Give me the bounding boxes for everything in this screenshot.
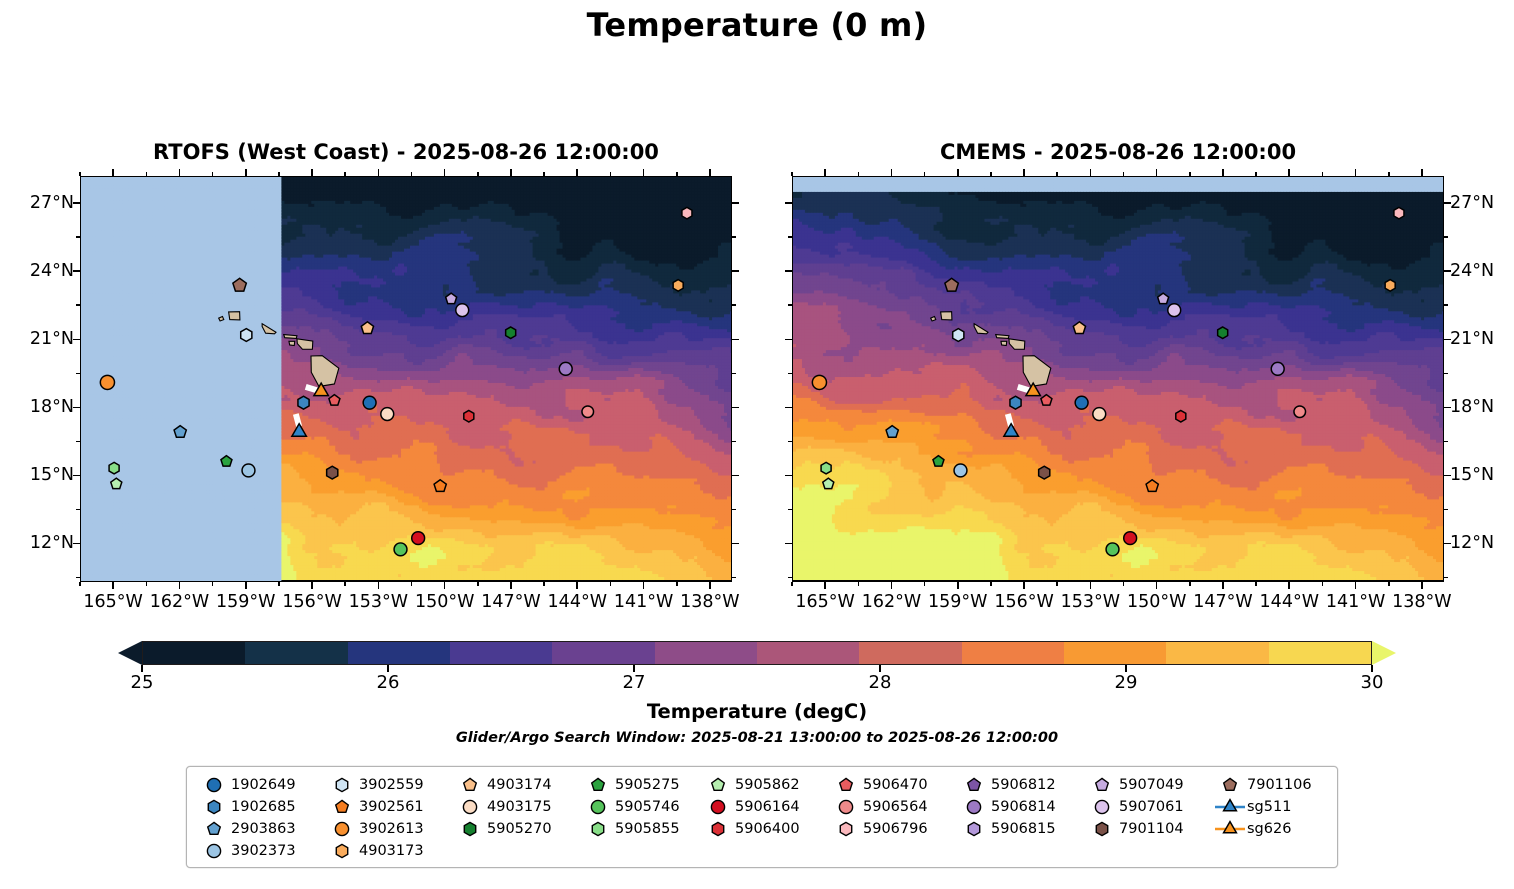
ytick-minor-left <box>788 577 792 579</box>
map-marker-5905746[interactable] <box>394 543 407 556</box>
xtick-major <box>510 582 512 589</box>
xtick-minor <box>278 582 280 586</box>
xtick-label-1: 162°W <box>150 592 209 612</box>
xtick-minor-top <box>411 172 413 176</box>
xtick-major-top <box>576 169 578 176</box>
xtick-major-top <box>1222 169 1224 176</box>
xtick-minor-top <box>924 172 926 176</box>
map-marker-4903173[interactable] <box>673 280 683 292</box>
ytick-minor-left <box>76 373 80 375</box>
ytick-label-left-3: 18°N <box>30 397 74 417</box>
legend-item-2903863[interactable]: 2903863 <box>197 820 325 838</box>
xtick-minor-top <box>858 172 860 176</box>
ytick-major-left <box>73 543 80 545</box>
colorbar-tick-2 <box>633 665 634 672</box>
ytick-minor-left <box>76 509 80 511</box>
colorbar-tick-label-0: 25 <box>131 672 154 693</box>
panel-title-rtofs: RTOFS (West Coast) - 2025-08-26 12:00:00 <box>80 140 732 164</box>
colorbar-band-9 <box>1064 642 1166 664</box>
ytick-minor-right <box>732 441 736 443</box>
ytick-major-left <box>73 202 80 204</box>
ytick-major-left <box>785 475 792 477</box>
xtick-minor <box>344 582 346 586</box>
legend-marker-pentagon-icon <box>325 798 359 816</box>
ytick-minor-left <box>76 577 80 579</box>
xtick-major <box>444 582 446 589</box>
xtick-major-top <box>824 169 826 176</box>
map-panel-rtofs[interactable] <box>80 176 732 582</box>
ytick-minor-left <box>76 304 80 306</box>
xtick-minor-top <box>146 172 148 176</box>
xtick-minor-top <box>1056 172 1058 176</box>
xtick-major-top <box>1421 169 1423 176</box>
xtick-major <box>824 582 826 589</box>
legend-item-sg626[interactable]: sg626 <box>1213 820 1325 838</box>
ytick-major-left <box>785 270 792 272</box>
xtick-minor <box>1322 582 1324 586</box>
xtick-major <box>1090 582 1092 589</box>
xtick-label-3: 156°W <box>282 592 341 612</box>
ytick-minor-left <box>76 441 80 443</box>
xtick-major <box>1023 582 1025 589</box>
legend-item-5905746[interactable]: 5905746 <box>581 798 701 816</box>
map-marker-3902373[interactable] <box>242 464 255 477</box>
ytick-minor-right <box>732 236 736 238</box>
legend-marker-pentagon-icon <box>1085 776 1119 794</box>
xtick-label-7: 144°W <box>1260 592 1319 612</box>
legend-column-5: 590647059065645906796 <box>829 776 957 860</box>
xtick-minor <box>858 582 860 586</box>
xtick-minor <box>791 582 793 586</box>
legend-label: 3902561 <box>359 799 424 815</box>
colorbar-band-10 <box>1166 642 1268 664</box>
colorbar-band-1 <box>245 642 347 664</box>
island-polygon <box>229 312 240 320</box>
colorbar-tick-5 <box>1371 665 1372 672</box>
legend-item-5906164[interactable]: 5906164 <box>701 798 829 816</box>
legend-label: 4903173 <box>359 843 424 859</box>
xtick-minor <box>610 582 612 586</box>
map-marker-5907061[interactable] <box>1168 304 1181 317</box>
xtick-minor <box>990 582 992 586</box>
legend-item-5906815[interactable]: 5906815 <box>957 820 1085 838</box>
ytick-minor-right <box>732 304 736 306</box>
ytick-major-right <box>732 407 739 409</box>
xtick-label-0: 165°W <box>795 592 854 612</box>
legend-item-3902561[interactable]: 3902561 <box>325 798 453 816</box>
xtick-minor-top <box>1322 172 1324 176</box>
legend-marker-hexagon-icon <box>957 820 991 838</box>
legend-marker-circle-icon <box>197 842 231 860</box>
legend-marker-hexagon-icon <box>453 820 487 838</box>
legend-item-7901106[interactable]: 7901106 <box>1213 776 1325 794</box>
xtick-label-2: 159°W <box>216 592 275 612</box>
legend-marker-pentagon-icon <box>197 820 231 838</box>
ytick-minor-right <box>1444 441 1448 443</box>
map-marker-5905270[interactable] <box>506 327 516 339</box>
xtick-minor-top <box>212 172 214 176</box>
xtick-major <box>576 582 578 589</box>
xtick-label-8: 141°W <box>614 592 673 612</box>
map-marker-3902613[interactable] <box>812 375 826 389</box>
map-marker-5906796[interactable] <box>1394 207 1404 219</box>
legend-item-5905862[interactable]: 5905862 <box>701 776 829 794</box>
xtick-minor <box>1255 582 1257 586</box>
legend-item-3902373[interactable]: 3902373 <box>197 842 325 860</box>
legend-label: 3902613 <box>359 821 424 837</box>
legend-item-5905855[interactable]: 5905855 <box>581 820 701 838</box>
xtick-minor <box>1123 582 1125 586</box>
island-polygon <box>1001 341 1007 345</box>
map-marker-1902685[interactable] <box>298 396 309 409</box>
map-marker-5905855[interactable] <box>821 462 831 474</box>
xtick-major-top <box>643 169 645 176</box>
xtick-minor-top <box>1255 172 1257 176</box>
legend-item-5906796[interactable]: 5906796 <box>829 820 957 838</box>
xtick-major-top <box>891 169 893 176</box>
colorbar-band-2 <box>348 642 450 664</box>
xtick-major-top <box>378 169 380 176</box>
xtick-label-5: 150°W <box>1127 592 1186 612</box>
xtick-minor <box>212 582 214 586</box>
legend-item-5906564[interactable]: 5906564 <box>829 798 957 816</box>
legend-label: 5905270 <box>487 821 552 837</box>
xtick-minor <box>1056 582 1058 586</box>
legend-label: 5907061 <box>1119 799 1184 815</box>
legend-label: 1902685 <box>231 799 296 815</box>
map-marker-1902649[interactable] <box>1075 396 1088 409</box>
legend-item-4903173[interactable]: 4903173 <box>325 842 453 860</box>
legend-column-7: 590704959070617901104 <box>1085 776 1213 860</box>
legend-label: sg511 <box>1247 799 1291 815</box>
xtick-label-8: 141°W <box>1326 592 1385 612</box>
colorbar-band-8 <box>962 642 1064 664</box>
ytick-major-right <box>732 339 739 341</box>
ytick-minor-right <box>1444 577 1448 579</box>
colorbar-tick-label-2: 27 <box>623 672 646 693</box>
legend-item-5905270[interactable]: 5905270 <box>453 820 581 838</box>
glider-track-sg626 <box>306 387 317 390</box>
legend-item-1902649[interactable]: 1902649 <box>197 776 325 794</box>
colorbar-band-3 <box>450 642 552 664</box>
float-legend[interactable]: 1902649190268529038633902373390255939025… <box>186 766 1338 868</box>
xtick-label-2: 159°W <box>928 592 987 612</box>
ytick-major-right <box>732 475 739 477</box>
glider-track-sg626 <box>1018 387 1029 390</box>
map-marker-3902613[interactable] <box>100 375 114 389</box>
colorbar-band-5 <box>655 642 757 664</box>
legend-label: 5906164 <box>735 799 800 815</box>
search-window-caption: Glider/Argo Search Window: 2025-08-21 13… <box>0 730 1514 746</box>
legend-label: 1902649 <box>231 777 296 793</box>
map-marker-3902559[interactable] <box>241 329 252 342</box>
island-polygon <box>289 341 295 345</box>
map-marker-5906400[interactable] <box>464 410 474 422</box>
ytick-major-left <box>73 407 80 409</box>
legend-label: 2903863 <box>231 821 296 837</box>
map-marker-5906564[interactable] <box>1294 406 1306 418</box>
map-marker-1902649[interactable] <box>363 396 376 409</box>
xtick-major <box>643 582 645 589</box>
legend-item-3902559[interactable]: 3902559 <box>325 776 453 794</box>
xtick-minor-top <box>791 172 793 176</box>
map-marker-5906164[interactable] <box>412 532 425 545</box>
xtick-label-3: 156°W <box>994 592 1053 612</box>
ytick-label-left-5: 12°N <box>30 533 74 553</box>
legend-label: 4903174 <box>487 777 552 793</box>
ytick-minor-right <box>1444 373 1448 375</box>
xtick-minor-top <box>543 172 545 176</box>
legend-item-5907061[interactable]: 5907061 <box>1085 798 1213 816</box>
colorbar-tick-1 <box>387 665 388 672</box>
legend-item-5905275[interactable]: 5905275 <box>581 776 701 794</box>
xtick-major-top <box>1090 169 1092 176</box>
xtick-major-top <box>1288 169 1290 176</box>
legend-marker-hexagon-icon <box>325 776 359 794</box>
legend-item-5906400[interactable]: 5906400 <box>701 820 829 838</box>
legend-item-5906470[interactable]: 5906470 <box>829 776 957 794</box>
xtick-label-9: 138°W <box>680 592 739 612</box>
ytick-minor-left <box>788 373 792 375</box>
ytick-major-left <box>785 407 792 409</box>
ytick-minor-left <box>788 236 792 238</box>
xtick-major-top <box>179 169 181 176</box>
map-marker-5906814[interactable] <box>1271 362 1284 375</box>
xtick-major-top <box>510 169 512 176</box>
legend-marker-pentagon-icon <box>453 776 487 794</box>
xtick-minor-top <box>1388 172 1390 176</box>
ytick-major-left <box>73 475 80 477</box>
xtick-minor-top <box>344 172 346 176</box>
xtick-major <box>378 582 380 589</box>
ytick-label-right-0: 27°N <box>1450 193 1494 213</box>
xtick-major-top <box>245 169 247 176</box>
xtick-major <box>1421 582 1423 589</box>
ytick-minor-right <box>1444 509 1448 511</box>
legend-label: 4903175 <box>487 799 552 815</box>
xtick-major-top <box>1156 169 1158 176</box>
legend-label: 5906815 <box>991 821 1056 837</box>
legend-item-5907049[interactable]: 5907049 <box>1085 776 1213 794</box>
legend-label: 5905862 <box>735 777 800 793</box>
legend-column-8: 7901106sg511sg626 <box>1213 776 1325 860</box>
legend-column-1: 3902559390256139026134903173 <box>325 776 453 860</box>
xtick-minor-top <box>477 172 479 176</box>
xtick-major-top <box>1023 169 1025 176</box>
colorbar-tick-label-5: 30 <box>1361 672 1384 693</box>
legend-marker-hexagon-icon <box>581 820 615 838</box>
legend-item-4903174[interactable]: 4903174 <box>453 776 581 794</box>
xtick-major <box>112 582 114 589</box>
legend-label: 5906812 <box>991 777 1056 793</box>
legend-marker-triangle-line-icon <box>1213 798 1247 816</box>
legend-marker-circle-icon <box>197 776 231 794</box>
legend-label: 3902559 <box>359 777 424 793</box>
map-marker-4903173[interactable] <box>1385 280 1395 292</box>
legend-marker-hexagon-icon <box>829 820 863 838</box>
map-marker-5906814[interactable] <box>559 362 572 375</box>
ytick-major-right <box>732 202 739 204</box>
legend-marker-pentagon-icon <box>957 776 991 794</box>
colorbar-tick-label-3: 28 <box>869 672 892 693</box>
xtick-label-0: 165°W <box>83 592 142 612</box>
legend-item-3902613[interactable]: 3902613 <box>325 820 453 838</box>
map-marker-5906796[interactable] <box>682 207 692 219</box>
xtick-major <box>1355 582 1357 589</box>
map-marker-5905855[interactable] <box>109 462 119 474</box>
xtick-major-top <box>1355 169 1357 176</box>
legend-label: 5906814 <box>991 799 1056 815</box>
xtick-minor-top <box>1189 172 1191 176</box>
legend-column-3: 590527559057465905855 <box>581 776 701 860</box>
xtick-minor <box>1189 582 1191 586</box>
map-panel-cmems[interactable] <box>792 176 1444 582</box>
map-marker-5905746[interactable] <box>1106 543 1119 556</box>
ytick-minor-left <box>788 509 792 511</box>
ytick-minor-right <box>732 577 736 579</box>
map-marker-1902685[interactable] <box>1010 396 1021 409</box>
legend-marker-pentagon-icon <box>701 776 735 794</box>
xtick-major <box>311 582 313 589</box>
colorbar-band-0 <box>143 642 245 664</box>
legend-column-0: 1902649190268529038633902373 <box>197 776 325 860</box>
xtick-label-9: 138°W <box>1392 592 1451 612</box>
legend-label: sg626 <box>1247 821 1291 837</box>
legend-marker-circle-icon <box>1085 798 1119 816</box>
xtick-major-top <box>709 169 711 176</box>
colorbar-label: Temperature (degC) <box>0 700 1514 723</box>
xtick-label-1: 162°W <box>862 592 921 612</box>
colorbar[interactable] <box>118 641 1396 665</box>
legend-column-2: 490317449031755905270 <box>453 776 581 860</box>
xtick-minor <box>543 582 545 586</box>
ytick-label-right-2: 21°N <box>1450 329 1494 349</box>
xtick-minor <box>79 582 81 586</box>
island-polygon <box>996 335 1009 339</box>
ytick-label-right-4: 15°N <box>1450 465 1494 485</box>
legend-marker-hexagon-icon <box>701 820 735 838</box>
legend-marker-triangle-line-icon <box>1213 820 1247 838</box>
legend-label: 5906470 <box>863 777 928 793</box>
colorbar-band-11 <box>1269 642 1371 664</box>
ytick-major-left <box>785 202 792 204</box>
xtick-major-top <box>957 169 959 176</box>
xtick-minor-top <box>676 172 678 176</box>
legend-item-4903175[interactable]: 4903175 <box>453 798 581 816</box>
xtick-major <box>709 582 711 589</box>
island-polygon <box>941 312 952 320</box>
colorbar-gradient <box>142 641 1372 665</box>
map-marker-7901104[interactable] <box>1039 466 1050 479</box>
xtick-minor <box>477 582 479 586</box>
legend-item-5906814[interactable]: 5906814 <box>957 798 1085 816</box>
map-marker-4903175[interactable] <box>1093 408 1106 421</box>
ytick-minor-left <box>788 304 792 306</box>
page-title: Temperature (0 m) <box>0 6 1514 44</box>
xtick-major-top <box>444 169 446 176</box>
ytick-major-left <box>73 270 80 272</box>
legend-marker-pentagon-icon <box>829 776 863 794</box>
map-marker-5907061[interactable] <box>456 304 469 317</box>
legend-marker-hexagon-icon <box>325 842 359 860</box>
ytick-label-left-4: 15°N <box>30 465 74 485</box>
xtick-minor <box>924 582 926 586</box>
xtick-major <box>1156 582 1158 589</box>
map-marker-5906564[interactable] <box>582 406 594 418</box>
legend-item-sg511[interactable]: sg511 <box>1213 798 1325 816</box>
map-marker-4903175[interactable] <box>381 408 394 421</box>
map-marker-3902559[interactable] <box>953 329 964 342</box>
legend-label: 7901104 <box>1119 821 1184 837</box>
ytick-minor-right <box>732 509 736 511</box>
ytick-minor-right <box>1444 236 1448 238</box>
colorbar-band-7 <box>859 642 961 664</box>
ytick-major-left <box>785 543 792 545</box>
xtick-minor <box>411 582 413 586</box>
colorbar-tick-label-4: 29 <box>1115 672 1138 693</box>
xtick-major <box>179 582 181 589</box>
legend-marker-pentagon-icon <box>1213 776 1247 794</box>
colorbar-extend-max-arrow <box>1372 641 1396 665</box>
ytick-major-right <box>732 270 739 272</box>
xtick-minor <box>1388 582 1390 586</box>
legend-item-7901104[interactable]: 7901104 <box>1085 820 1213 838</box>
rtofs-temperature-field <box>81 177 731 581</box>
colorbar-band-4 <box>552 642 654 664</box>
legend-marker-hexagon-icon <box>1085 820 1119 838</box>
xtick-major <box>245 582 247 589</box>
xtick-minor-top <box>278 172 280 176</box>
ytick-major-left <box>785 339 792 341</box>
legend-label: 5905855 <box>615 821 680 837</box>
cmems-temperature-field <box>793 177 1443 581</box>
legend-label: 5905746 <box>615 799 680 815</box>
ytick-minor-left <box>788 441 792 443</box>
legend-item-5906812[interactable]: 5906812 <box>957 776 1085 794</box>
xtick-major <box>957 582 959 589</box>
ytick-minor-right <box>732 373 736 375</box>
legend-label: 5906796 <box>863 821 928 837</box>
legend-marker-circle-icon <box>453 798 487 816</box>
panel-title-cmems: CMEMS - 2025-08-26 12:00:00 <box>792 140 1444 164</box>
map-marker-3902373[interactable] <box>954 464 967 477</box>
map-marker-5906400[interactable] <box>1176 410 1186 422</box>
xtick-label-6: 147°W <box>481 592 540 612</box>
ytick-label-left-1: 24°N <box>30 261 74 281</box>
xtick-major <box>1222 582 1224 589</box>
ytick-label-right-3: 18°N <box>1450 397 1494 417</box>
colorbar-tick-3 <box>879 665 880 672</box>
map-marker-5905270[interactable] <box>1218 327 1228 339</box>
legend-label: 3902373 <box>231 843 296 859</box>
xtick-minor <box>676 582 678 586</box>
legend-marker-circle-icon <box>957 798 991 816</box>
map-marker-7901104[interactable] <box>327 466 338 479</box>
island-polygon <box>284 335 297 339</box>
legend-column-6: 590681259068145906815 <box>957 776 1085 860</box>
xtick-minor-top <box>1123 172 1125 176</box>
legend-marker-circle-icon <box>701 798 735 816</box>
xtick-major <box>891 582 893 589</box>
ytick-major-right <box>732 543 739 545</box>
legend-item-1902685[interactable]: 1902685 <box>197 798 325 816</box>
xtick-minor <box>146 582 148 586</box>
map-marker-5906164[interactable] <box>1124 532 1137 545</box>
legend-label: 5905275 <box>615 777 680 793</box>
legend-marker-hexagon-icon <box>197 798 231 816</box>
ytick-label-right-1: 24°N <box>1450 261 1494 281</box>
xtick-label-6: 147°W <box>1193 592 1252 612</box>
